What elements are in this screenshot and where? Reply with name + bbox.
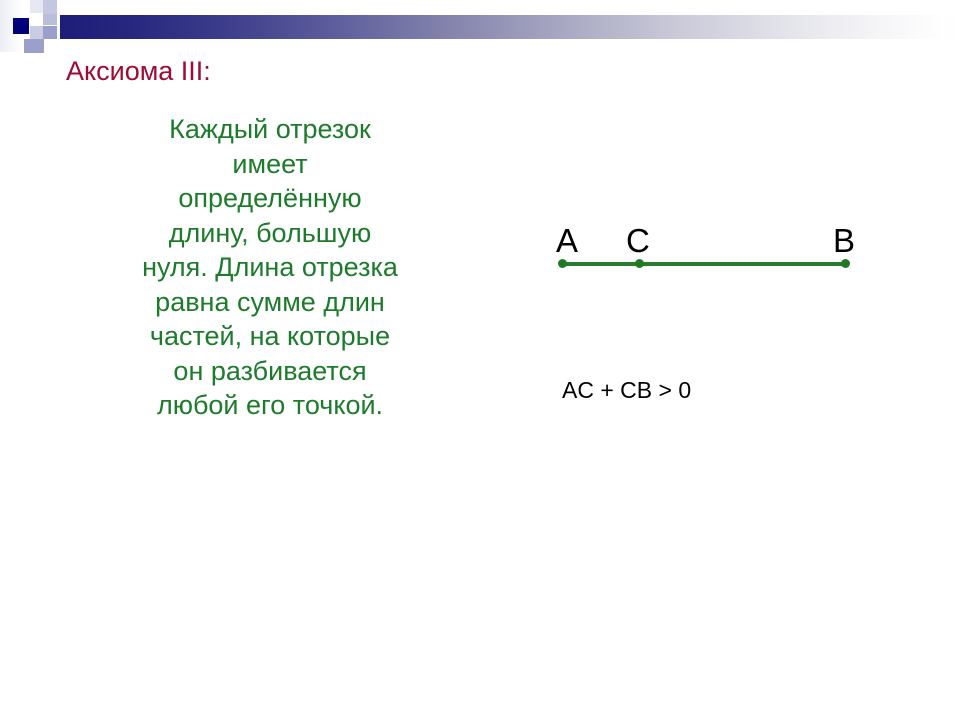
body-text-line: равна сумме длин [60,285,480,320]
point-label-b: B [833,224,855,257]
header-accent-square-4 [43,14,57,25]
point-dot-b [841,259,850,268]
body-text-line: Каждый отрезок [60,112,480,147]
segment-formula: AC + CB > 0 [562,377,691,403]
point-dot-a [558,259,567,268]
slide-canvas: Аксиома III: Каждый отрезок имеет опреде… [0,0,960,720]
point-dot-c [635,259,644,268]
body-text-line: он разбивается [60,354,480,389]
point-label-c: C [626,224,650,257]
point-label-a: A [556,224,578,257]
body-text-line: длину, большую [60,216,480,251]
header-accent-square-1 [30,0,43,13]
header-accent-square-3 [30,13,43,25]
header-accent-square-8 [30,39,44,53]
body-text-line: частей, на которые [60,319,480,354]
header-accent-square-2 [43,0,57,14]
header-gradient-bar [60,15,960,39]
header-accent-square-6 [43,26,57,39]
body-text-line: любой его точкой. [60,388,480,423]
header-accent-square-5 [30,26,43,39]
body-text-line: определённую [60,181,480,216]
axiom-body-text: Каждый отрезок имеет определённую длину,… [60,112,480,423]
segment-line [562,262,845,266]
body-text-line: имеет [60,147,480,182]
header-accent-square-navy [13,18,29,34]
segment-diagram: A C B AC + CB > 0 [520,200,920,440]
page-title: Аксиома III: [66,55,211,87]
body-text-line: нуля. Длина отрезка [60,250,480,285]
